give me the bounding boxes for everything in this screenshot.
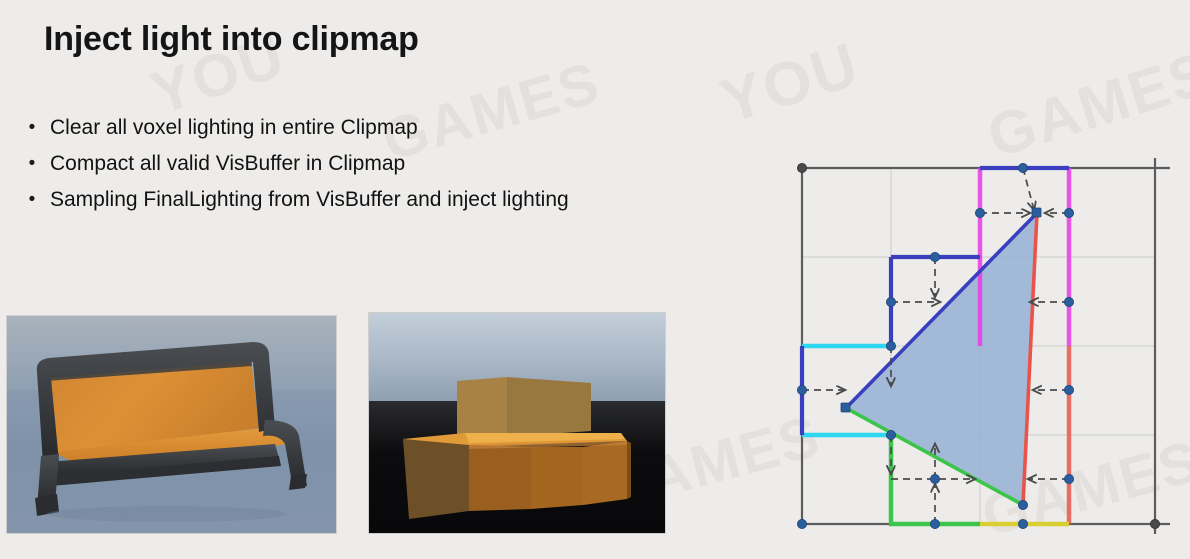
smooth-shaded-bench-render — [7, 316, 336, 533]
voxelized-bench-render — [369, 313, 665, 533]
slide-title: Inject light into clipmap — [44, 20, 419, 59]
slide-root: YOU GAMES YOU GAMES GAMES GAMES Inject l… — [0, 0, 1190, 559]
bullet-item: • Sampling FinalLighting from VisBuffer … — [14, 186, 754, 214]
clipmap-voxel-grid-diagram — [770, 140, 1190, 550]
bullet-item: • Compact all valid VisBuffer in Clipmap — [14, 150, 754, 178]
bullet-item: • Clear all voxel lighting in entire Cli… — [14, 114, 754, 142]
bullet-text: Compact all valid VisBuffer in Clipmap — [50, 150, 405, 178]
bullet-marker-icon: • — [14, 150, 50, 178]
bench-vector-art — [7, 316, 336, 533]
grid-diagram-svg — [770, 140, 1190, 550]
bullet-list: • Clear all voxel lighting in entire Cli… — [14, 114, 754, 222]
bullet-text: Clear all voxel lighting in entire Clipm… — [50, 114, 418, 142]
voxel-bench-vector-art — [369, 313, 665, 533]
bullet-text: Sampling FinalLighting from VisBuffer an… — [50, 186, 569, 214]
bullet-marker-icon: • — [14, 114, 50, 142]
bullet-marker-icon: • — [14, 186, 50, 214]
